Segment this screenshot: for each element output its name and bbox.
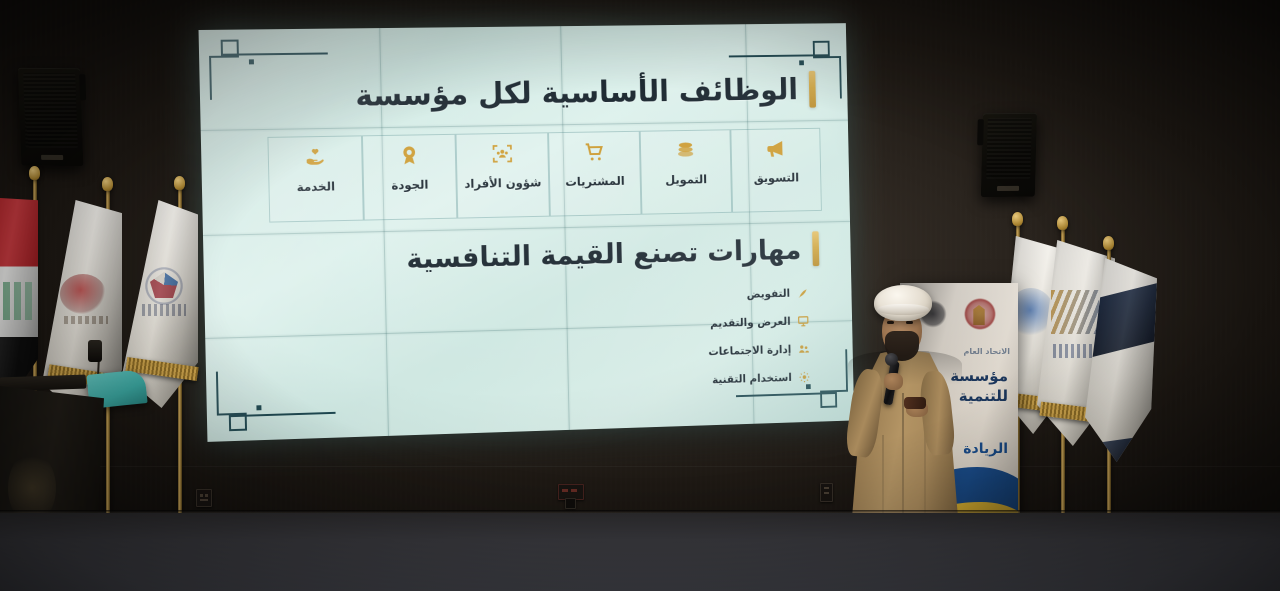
skills-list: التفويض العرض والتقديم [707,287,811,387]
flag-finial [29,166,40,180]
flag-finial [1103,236,1114,250]
skill-label: العرض والتقديم [710,315,791,330]
delegate-icon [796,287,808,300]
presentation-screen: الوظائف الأساسية لكل مؤسسة التسويق [199,23,855,442]
flag-finial [1012,212,1023,226]
skill-item[interactable]: التفويض [747,287,809,301]
speaker-bracket [977,119,984,145]
title-accent-bar [812,231,819,266]
card-label: الخدمة [297,179,336,194]
coins-stack-icon [674,139,697,163]
takbir-script [0,282,32,321]
meeting-icon [798,343,810,356]
presentation-icon [797,315,809,328]
skill-label: التفويض [747,287,791,301]
desk-microphone [88,340,102,362]
card-label: التسويق [754,171,800,185]
card-service[interactable]: الخدمة [267,135,363,222]
section2-title: مهارات تصنع القيمة التنافسية [406,233,802,274]
flag-finial [174,176,185,190]
presenter-hand-mic [884,373,903,390]
speaker-badge [997,186,1019,191]
microphone-head [885,353,898,366]
card-marketing[interactable]: التسويق [730,128,822,213]
skill-item[interactable]: إدارة الاجتماعات [708,343,810,359]
card-quality[interactable]: الجودة [362,134,457,221]
slide-content: الوظائف الأساسية لكل مؤسسة التسويق [199,23,855,442]
card-label: المشتريات [565,174,625,189]
speaker-grille [986,118,1032,179]
pa-speaker-right [981,113,1037,197]
presenter-turban [874,285,932,321]
conference-hall-scene: الوظائف الأساسية لكل مؤسسة التسويق [0,0,1280,591]
corner-ornament-bottom-left [216,368,336,433]
wall-socket [565,498,576,509]
pa-speaker-left [18,68,83,166]
skill-item[interactable]: استخدام التقنية [712,371,811,387]
wall-socket [196,489,212,507]
shopping-cart-icon [583,140,606,164]
presenter-eye [906,321,913,324]
wall-seam [0,466,1280,467]
flag-finial [1057,216,1068,230]
section1-title: الوظائف الأساسية لكل مؤسسة [355,73,798,114]
card-label: الجودة [391,178,428,193]
skill-item[interactable]: العرض والتقديم [710,315,809,330]
card-hr[interactable]: شؤون الأفراد [455,132,549,218]
skill-label: استخدام التقنية [712,371,792,386]
flag-finial [102,177,113,191]
speaker-bracket [79,74,86,100]
wall-socket [820,483,833,502]
people-frame-icon [491,142,515,166]
function-cards: التسويق التمويل [267,128,821,223]
hand-heart-icon [303,145,327,169]
speaker-badge [41,155,63,160]
card-label: شؤون الأفراد [464,176,541,191]
skill-label: إدارة الاجتماعات [708,343,791,358]
technology-icon [798,371,810,384]
megaphone-icon [764,137,787,161]
video-wall: الوظائف الأساسية لكل مؤسسة التسويق [199,23,855,442]
handheld-object [904,397,926,409]
card-purchasing[interactable]: المشتريات [548,131,641,217]
title-accent-bar [809,71,816,108]
speaker-grille [23,73,78,148]
section1-title-row: الوظائف الأساسية لكل مؤسسة [355,70,816,116]
card-finance[interactable]: التمويل [640,129,732,214]
presenter-eye [887,321,894,324]
award-medal-icon [397,143,421,167]
hall-floor [0,513,1280,591]
card-label: التمويل [665,172,707,186]
section2-title-row: مهارات تصنع القيمة التنافسية [406,230,819,277]
corner-ornament-top-left [209,37,329,100]
